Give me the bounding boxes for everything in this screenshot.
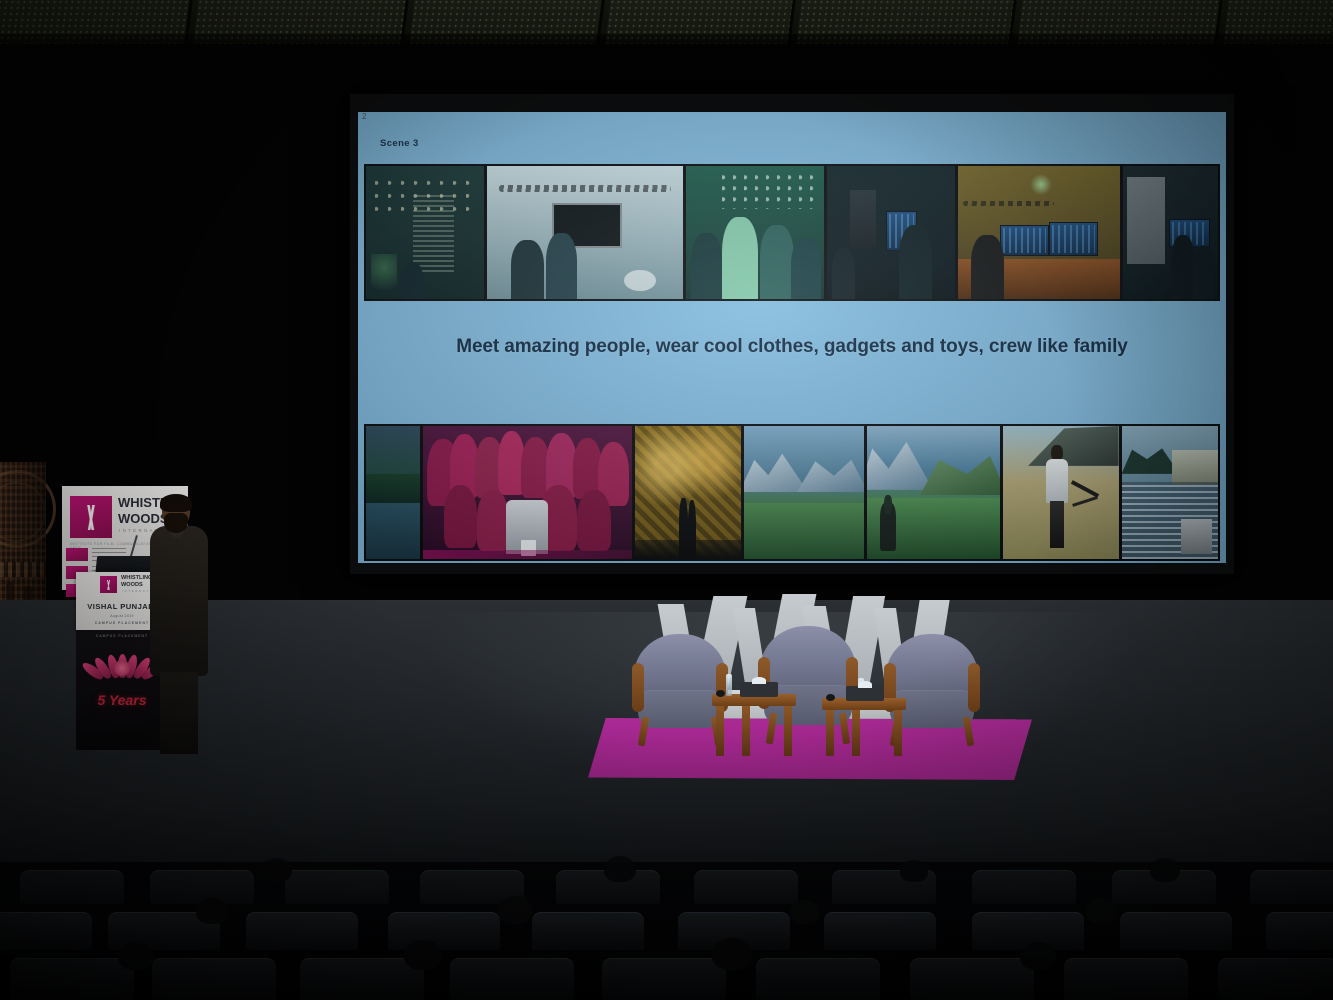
photo-valley-mountains <box>744 426 864 559</box>
coffee-table-right <box>822 698 906 756</box>
auditorium-scene: 2 Scene 3 <box>0 0 1333 1000</box>
lotus-ganesha-icon <box>96 644 148 678</box>
slide-page-marker: 2 <box>362 112 366 121</box>
photo-room-lights <box>366 166 484 299</box>
whistling-woods-logo <box>70 496 112 538</box>
photo-horse-rider <box>867 426 1000 559</box>
photo-lake-dusk <box>366 426 420 559</box>
projection-screen: 2 Scene 3 <box>350 94 1234 574</box>
photo-edit-suite-a <box>827 166 955 299</box>
bottom-photo-strip <box>364 424 1220 561</box>
tissue-box-left <box>740 682 778 697</box>
microphone-right <box>826 694 835 701</box>
photo-studio-racks <box>1123 166 1218 299</box>
photo-event-venue <box>1122 426 1218 559</box>
speaker-person <box>148 496 210 754</box>
coffee-table-left <box>712 694 796 756</box>
microphone-left <box>716 690 725 697</box>
scene-label: Scene 3 <box>380 138 419 149</box>
water-bottle-left <box>726 674 732 696</box>
top-photo-strip <box>364 164 1220 301</box>
photo-edit-suite-monitors <box>958 166 1120 299</box>
tissue-box-right <box>846 686 884 701</box>
nameplate-logo <box>100 576 117 593</box>
photo-golden-temple <box>635 426 741 559</box>
photo-monks-laptop <box>423 426 632 559</box>
photo-crew-laptop <box>686 166 824 299</box>
nameplate-brand-2: WOODS <box>121 583 143 589</box>
photo-wall-quote <box>487 166 682 299</box>
slide-headline: Meet amazing people, wear cool clothes, … <box>358 336 1226 358</box>
photo-crew-tripod <box>1003 426 1119 559</box>
audience-seating <box>0 862 1333 1000</box>
slide-content: 2 Scene 3 <box>358 112 1226 563</box>
